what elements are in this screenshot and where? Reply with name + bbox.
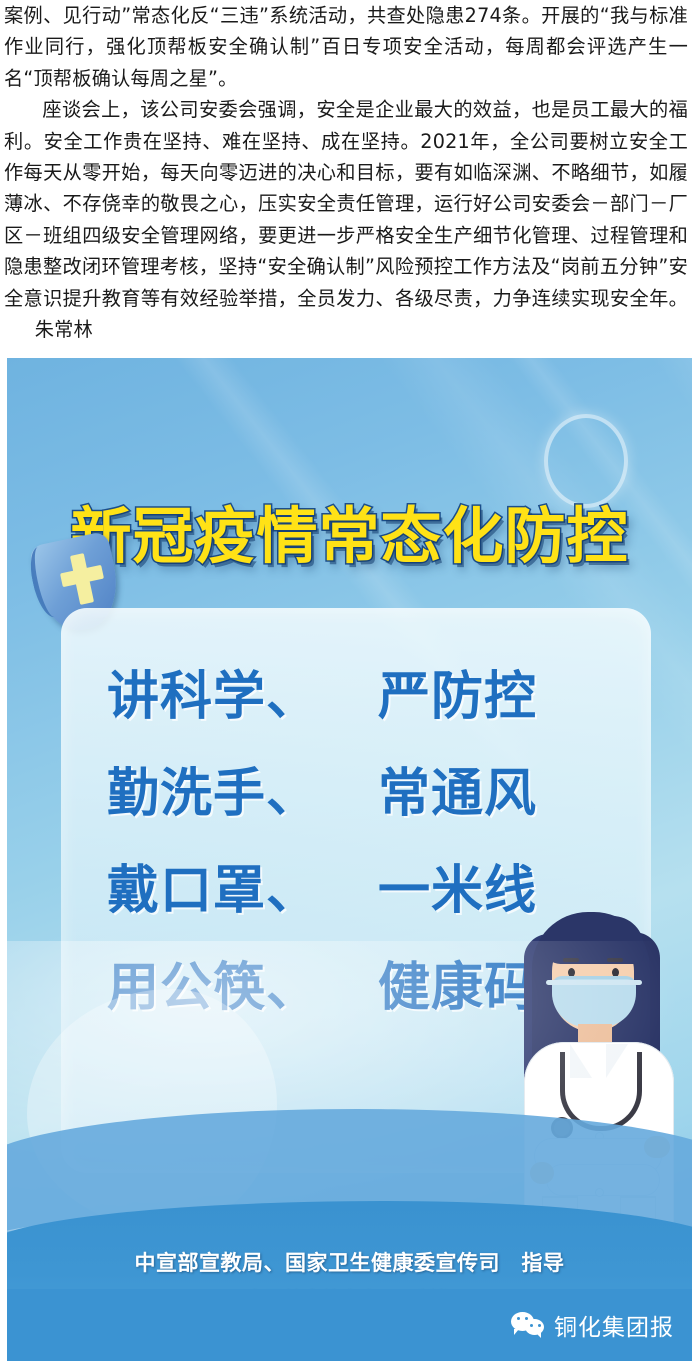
slogan-row: 讲科学、 严防控 bbox=[61, 648, 621, 745]
wechat-account-name: 铜化集团报 bbox=[554, 1308, 674, 1342]
article-text-block: 案例、见行动”常态化反“三违”系统活动，共查处隐患274条。开展的“我与标准作业… bbox=[0, 0, 692, 345]
slogan-left: 讲科学、 bbox=[107, 671, 319, 723]
doctor-eyebrow bbox=[563, 958, 579, 962]
slogan-row: 勤洗手、 常通风 bbox=[61, 745, 621, 842]
doctor-eyebrow bbox=[607, 958, 623, 962]
slogan-right: 常通风 bbox=[378, 768, 537, 820]
face-mask-band bbox=[546, 980, 642, 985]
article-byline: 朱常林 bbox=[35, 318, 93, 341]
wechat-bubble-small bbox=[525, 1319, 544, 1335]
slogan-left: 戴口罩、 bbox=[107, 865, 319, 917]
article-paragraph-2-text: 座谈会上，该公司安委会强调，安全是企业最大的效益，也是员工最大的福利。安全工作贵… bbox=[4, 98, 688, 309]
poster-image-container: 新冠疫情常态化防控 讲科学、 严防控 勤洗手、 常通风 戴口罩、 一米线 用公筷… bbox=[0, 358, 692, 1361]
wechat-footer-strip: 铜化集团报 bbox=[7, 1289, 692, 1361]
wechat-account-badge[interactable]: 铜化集团报 bbox=[511, 1308, 674, 1342]
slogan-left: 用公筷、 bbox=[107, 962, 319, 1014]
slogan-left: 勤洗手、 bbox=[107, 768, 319, 820]
doctor-fringe bbox=[544, 916, 644, 964]
article-paragraph-2: 座谈会上，该公司安委会强调，安全是企业最大的效益，也是员工最大的福利。安全工作贵… bbox=[4, 94, 688, 345]
wechat-icon bbox=[511, 1312, 545, 1338]
covid-prevention-poster: 新冠疫情常态化防控 讲科学、 严防控 勤洗手、 常通风 戴口罩、 一米线 用公筷… bbox=[7, 358, 692, 1361]
credit-guidance: 中宣部宣教局、国家卫生健康委宣传司 指导 bbox=[7, 1247, 692, 1277]
article-paragraph-1: 案例、见行动”常态化反“三违”系统活动，共查处隐患274条。开展的“我与标准作业… bbox=[4, 0, 688, 94]
slogan-right: 严防控 bbox=[378, 671, 537, 723]
